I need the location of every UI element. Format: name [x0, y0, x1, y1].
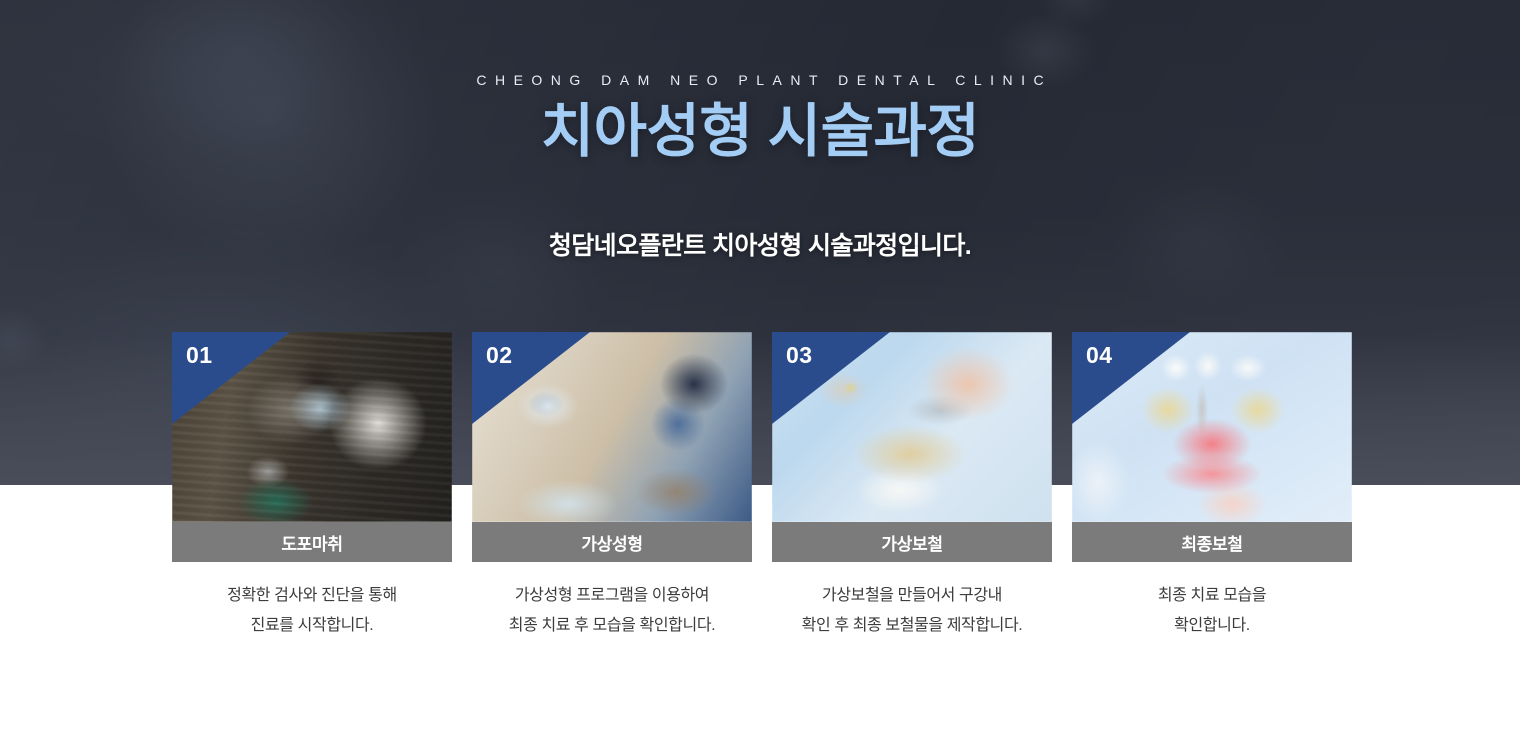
step-card[interactable]: 01 도포마취 정확한 검사와 진단을 통해 진료를 시작합니다.	[172, 332, 452, 641]
step-card-media: 01	[172, 332, 452, 522]
step-caption: 최종보철	[1072, 522, 1352, 562]
step-description: 정확한 검사와 진단을 통해 진료를 시작합니다.	[172, 581, 452, 641]
procedure-steps-grid: 01 도포마취 정확한 검사와 진단을 통해 진료를 시작합니다. 02 가상성…	[172, 332, 1352, 641]
step-number-label: 03	[786, 342, 813, 369]
step-card-media: 04	[1072, 332, 1352, 522]
step-caption: 가상성형	[472, 522, 752, 562]
step-card[interactable]: 03 가상보철 가상보철을 만들어서 구강내 확인 후 최종 보철물을 제작합니…	[772, 332, 1052, 641]
page-title: 치아성형 시술과정	[0, 100, 1520, 164]
step-number-label: 02	[486, 342, 513, 369]
step-card-media: 03	[772, 332, 1052, 522]
page-subtitle: 청담네오플란트 치아성형 시술과정입니다.	[0, 226, 1520, 262]
step-number-label: 01	[186, 342, 213, 369]
step-card[interactable]: 04 최종보철 최종 치료 모습을 확인합니다.	[1072, 332, 1352, 641]
clinic-name-eyebrow: CHEONG DAM NEO PLANT DENTAL CLINIC	[0, 72, 1520, 88]
step-caption: 가상보철	[772, 522, 1052, 562]
step-caption: 도포마취	[172, 522, 452, 562]
hero-text-block: CHEONG DAM NEO PLANT DENTAL CLINIC 치아성형 …	[0, 0, 1520, 262]
step-description: 가상보철을 만들어서 구강내 확인 후 최종 보철물을 제작합니다.	[772, 581, 1052, 641]
step-description: 최종 치료 모습을 확인합니다.	[1072, 581, 1352, 641]
step-description: 가상성형 프로그램을 이용하여 최종 치료 후 모습을 확인합니다.	[472, 581, 752, 641]
step-card[interactable]: 02 가상성형 가상성형 프로그램을 이용하여 최종 치료 후 모습을 확인합니…	[472, 332, 752, 641]
step-number-label: 04	[1086, 342, 1113, 369]
step-card-media: 02	[472, 332, 752, 522]
